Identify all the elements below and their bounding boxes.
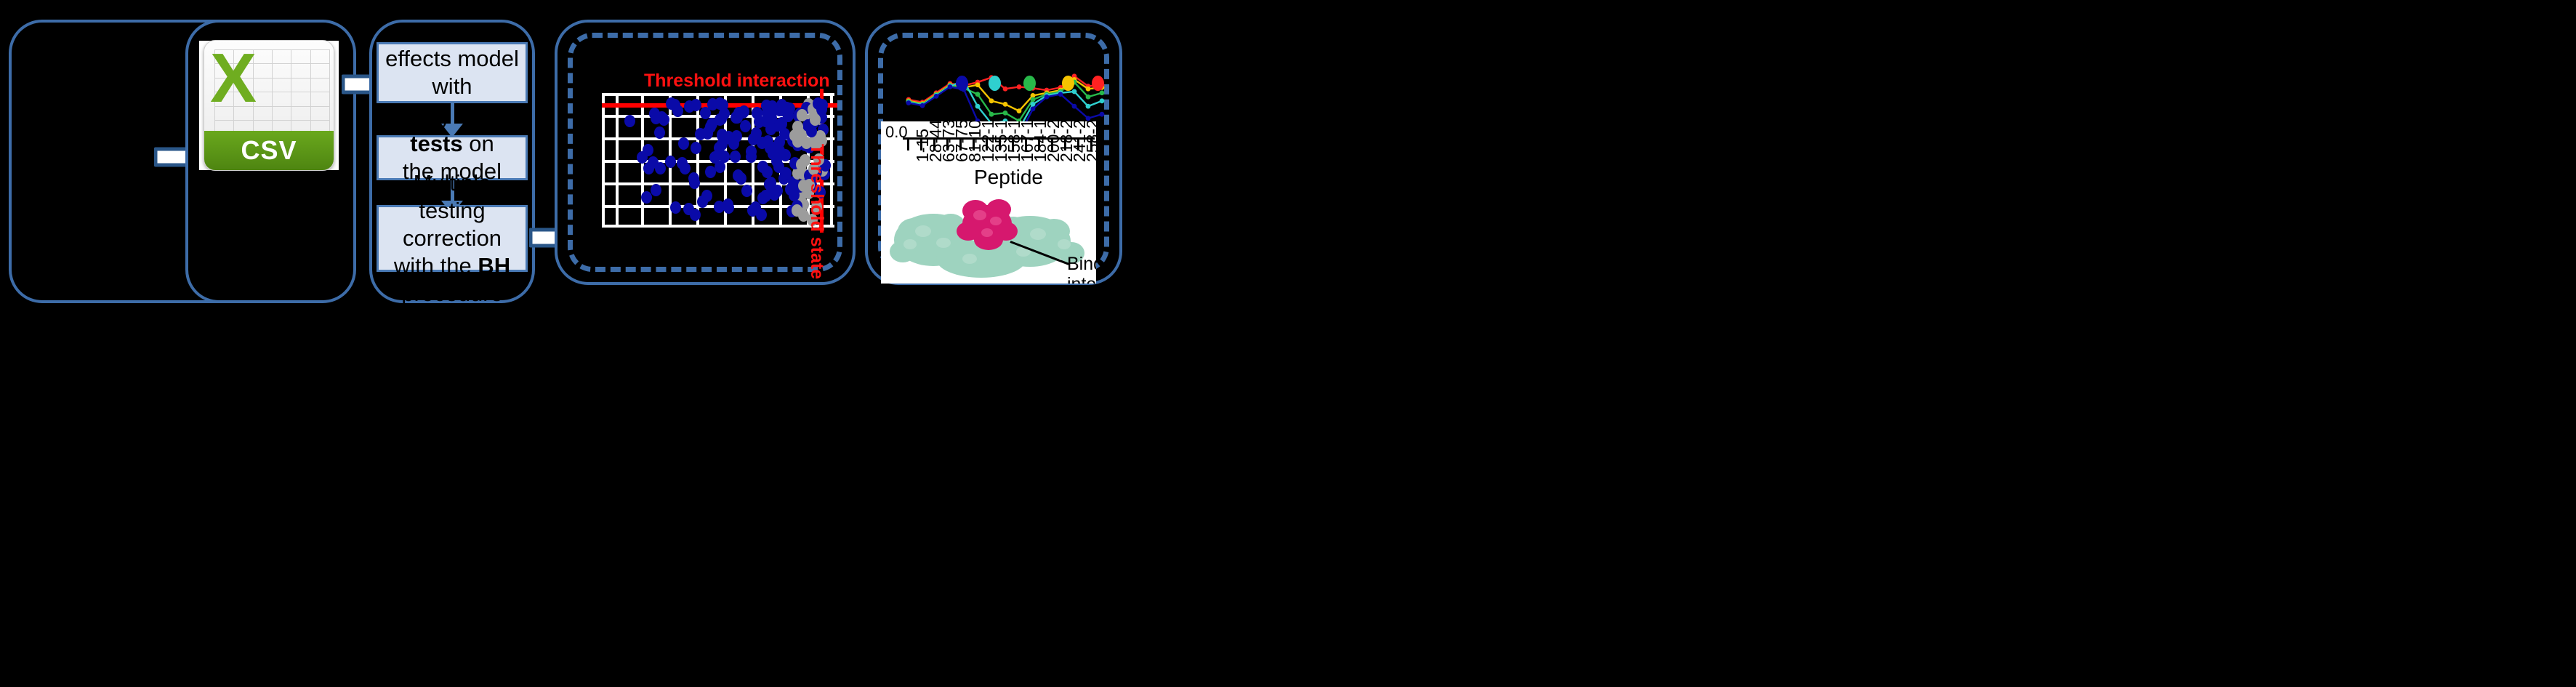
chart-data-point [920,103,925,108]
scatter-point [723,201,734,214]
peptide-axis-structure-card: 0.0 1-1528-4463-7367-7581-101122-129135-… [881,121,1096,284]
legend-dot-1 [989,76,1001,91]
chart-data-point [1072,89,1077,95]
protein-structure-image [881,189,1096,284]
x-axis-tick-label: 258-266 [1083,121,1096,162]
scatter-point [705,121,716,133]
scatter-point [651,184,661,196]
chart-data-point [1086,95,1091,100]
scatter-point-non-significant [797,109,808,121]
chart-data-point [1031,97,1036,103]
legend-dot-2 [1023,76,1036,91]
step-fit-model[interactable]: Fit a linear mixed-effects model withREM… [377,42,528,103]
csv-x-letter: X [210,44,257,113]
scatter-point [691,142,701,154]
grid-line-v [830,93,833,228]
chart-data-point [1003,111,1008,116]
scatter-point [733,107,744,119]
x-axis-title: Peptide [974,166,1043,189]
scatter-point [655,162,666,174]
binding-interface-label-line1: Binding [1067,254,1096,274]
scatter-point [765,112,776,124]
chart-data-point [1031,106,1036,111]
legend-dot-3 [1062,76,1074,91]
scatter-point [751,127,762,140]
scatter-point [656,111,667,124]
chart-data-point [1017,84,1022,89]
grid-line-h [602,225,834,228]
scatter-point [677,157,688,169]
chart-data-point [1086,116,1091,121]
scatter-point [776,117,787,129]
scatter-point [691,99,701,111]
scatter-point [701,190,712,202]
chart-data-point [948,84,953,89]
scatter-point [705,166,716,178]
scatter-point [736,172,746,185]
scatter-point [746,150,757,163]
legend-dot-4 [1092,76,1104,91]
step-multiple-testing[interactable]: Multiple testingcorrectionwith the BH pr… [377,205,528,272]
scatter-point [678,137,689,150]
chart-data-point [1017,108,1022,113]
scatter-point [768,148,778,160]
chart-data-point [1045,95,1050,100]
chart-data-point [1003,102,1008,107]
grid-line-v [696,93,699,228]
binding-interface-label-line2: interface [1067,274,1096,284]
chart-data-point [1100,90,1105,95]
scatter-point [670,201,681,214]
binding-interface-label: Binding interface [1067,254,1096,284]
scatter-point-non-significant [789,129,800,142]
chart-data-point [1058,92,1063,97]
scatter-point [643,162,654,174]
chart-data-point [1031,102,1036,107]
legend-dot-0 [956,76,968,91]
volcano-plot [602,93,834,228]
scatter-point [624,115,635,127]
chart-data-point [1072,104,1077,109]
scatter-point [747,204,758,217]
scatter-point [709,151,720,164]
scatter-point-non-significant [810,113,821,126]
scatter-point [780,149,791,161]
scatter-point [719,108,730,120]
scatter-point [740,120,751,132]
scatter-point [796,158,807,171]
scatter-point [773,161,784,173]
grid-line-h [602,93,834,96]
csv-extension-label: CSV [241,135,297,166]
volcano-vertical-label: Threshold state [806,144,827,279]
chart-data-point [989,112,994,117]
chart-data-point [975,82,981,87]
scatter-point [669,99,680,111]
scatter-point [695,128,706,140]
scatter-point [720,132,731,145]
chart-data-point [1086,87,1091,92]
scatter-point [730,150,741,163]
scatter-point [741,185,752,197]
chart-data-point [1100,98,1105,103]
csv-extension-band: CSV [204,131,334,170]
chart-data-point [906,100,911,105]
volcano-title: Threshold interaction [644,71,830,92]
step-multiple-testing-text: Multiple testingcorrectionwith the BH pr… [385,169,520,307]
chart-data-point [1086,104,1091,109]
x-axis-tick [907,139,909,150]
scatter-point [643,144,653,156]
csv-file-icon: X CSV [199,41,339,170]
grid-line-v [616,93,619,228]
chart-data-point [975,92,981,97]
scatter-point [766,185,777,197]
chart-data-point [934,94,939,99]
scatter-point [654,126,665,139]
chart-data-point [989,98,994,103]
scatter-point [665,156,676,168]
chart-data-point [975,104,981,109]
chart-data-point [1003,87,1008,92]
chart-data-point [1100,112,1105,117]
grid-line-v [602,93,605,228]
